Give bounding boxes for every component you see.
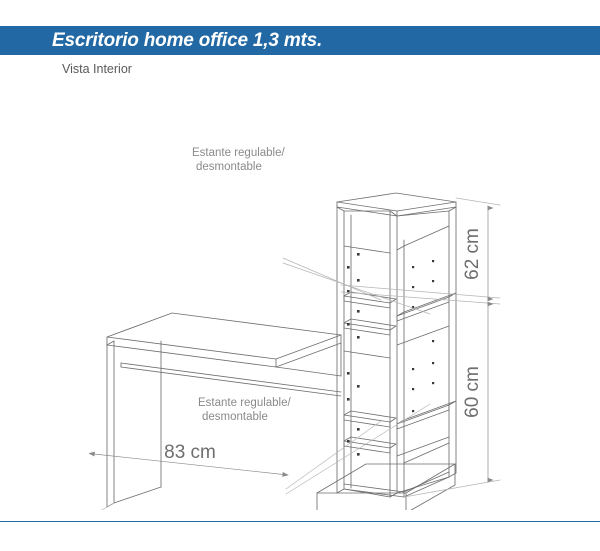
- tower-left-compartment: [344, 211, 396, 497]
- page-title: Escritorio home office 1,3 mts.: [52, 30, 322, 52]
- callout-upper-line2: desmontable: [196, 161, 262, 173]
- shelf-peg-holes: [347, 253, 434, 456]
- callout-upper-line1: Estante regulable/: [192, 147, 286, 159]
- furniture-technical-drawing: Estante regulable/ desmontable Estante r…: [0, 80, 600, 510]
- dimension-label-62cm: 62 cm: [462, 228, 483, 280]
- tower-plinth: [317, 464, 455, 510]
- title-band: Escritorio home office 1,3 mts.: [0, 26, 600, 55]
- desk-assembly: [107, 313, 341, 507]
- callout-lower-line1: Estante regulable/: [198, 397, 292, 409]
- callout-upper: Estante regulable/ desmontable: [192, 147, 286, 173]
- tower-center-divider: [390, 211, 397, 497]
- dimension-label-60cm: 60 cm: [462, 366, 483, 418]
- footer-divider: [0, 521, 600, 522]
- isometric-drawing-svg: Estante regulable/ desmontable Estante r…: [0, 80, 600, 510]
- dimension-label-83cm: 83 cm: [164, 442, 216, 463]
- callout-lower: Estante regulable/ desmontable: [198, 397, 292, 423]
- callout-lower-line2: desmontable: [202, 411, 268, 423]
- page-subtitle: Vista Interior: [62, 62, 132, 76]
- tower-right-compartment: [397, 211, 456, 493]
